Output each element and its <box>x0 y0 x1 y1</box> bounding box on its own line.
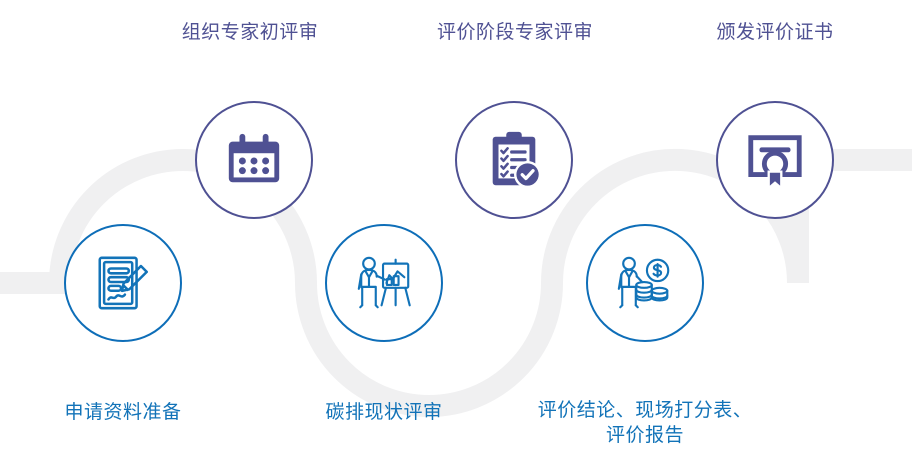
process-flow-diagram: 组织专家初评审 评价阶段专家评审 <box>0 0 912 473</box>
step-label-4: 评价阶段专家评审 <box>400 20 630 45</box>
step-label-2: 组织专家初评审 <box>150 20 350 45</box>
step-label-3: 碳排现状评审 <box>289 400 479 425</box>
clipboard-check-icon <box>483 129 545 191</box>
calendar-icon <box>223 129 285 191</box>
step-node-4[interactable] <box>455 101 573 219</box>
step-node-5[interactable] <box>586 224 704 342</box>
step-node-6[interactable] <box>716 101 834 219</box>
presenter-chart-icon <box>353 252 415 314</box>
step-node-3[interactable] <box>325 224 443 342</box>
businessman-coins-icon <box>614 252 676 314</box>
step-label-5: 评价结论、现场打分表、 评价报告 <box>520 398 770 448</box>
certificate-award-icon <box>744 129 806 191</box>
step-node-2[interactable] <box>195 101 313 219</box>
document-pen-icon <box>92 252 154 314</box>
step-label-1: 申请资料准备 <box>28 400 218 425</box>
step-node-1[interactable] <box>64 224 182 342</box>
step-label-6: 颁发评价证书 <box>675 20 875 45</box>
